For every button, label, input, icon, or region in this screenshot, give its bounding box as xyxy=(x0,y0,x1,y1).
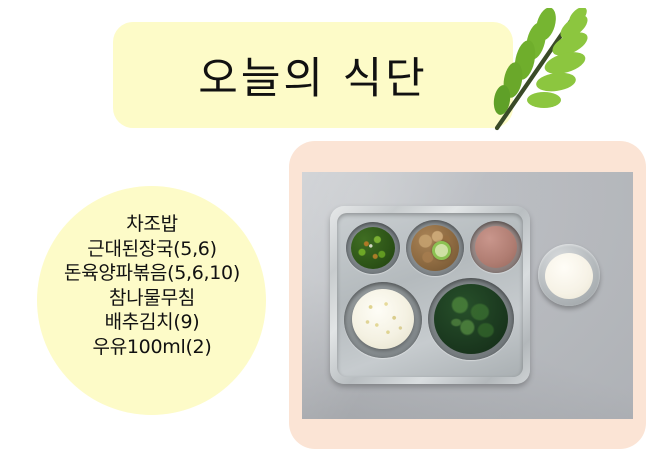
tray-compartment-rice xyxy=(344,282,422,358)
milk-cup xyxy=(538,244,600,306)
food-kimchi xyxy=(475,226,517,268)
lunch-tray-photo xyxy=(302,172,633,419)
food-millet-rice xyxy=(352,289,414,349)
tray-compartment-namul xyxy=(346,222,400,274)
fern-leaf-icon xyxy=(470,8,590,138)
food-namul xyxy=(351,227,395,269)
menu-item: 배추김치(9) xyxy=(20,310,284,335)
tray-compartment-soup xyxy=(428,278,514,360)
menu-item: 참나물무침 xyxy=(20,286,284,311)
food-chard-soybean-soup xyxy=(434,284,508,354)
green-onion-ring xyxy=(432,241,451,260)
menu-item: 돈육양파볶음(5,6,10) xyxy=(20,261,284,286)
menu-item: 근대된장국(5,6) xyxy=(20,237,284,262)
menu-item: 우유100ml(2) xyxy=(20,335,284,360)
milk-liquid xyxy=(545,253,593,299)
tray-compartment-kimchi xyxy=(470,221,522,273)
page-title: 오늘의 식단 xyxy=(113,22,513,128)
tray-compartment-stirfry xyxy=(406,220,464,276)
menu-list: 차조밥 근대된장국(5,6) 돈육양파볶음(5,6,10) 참나물무침 배추김치… xyxy=(20,212,284,359)
menu-item: 차조밥 xyxy=(20,212,284,237)
stainless-tray xyxy=(330,206,530,384)
